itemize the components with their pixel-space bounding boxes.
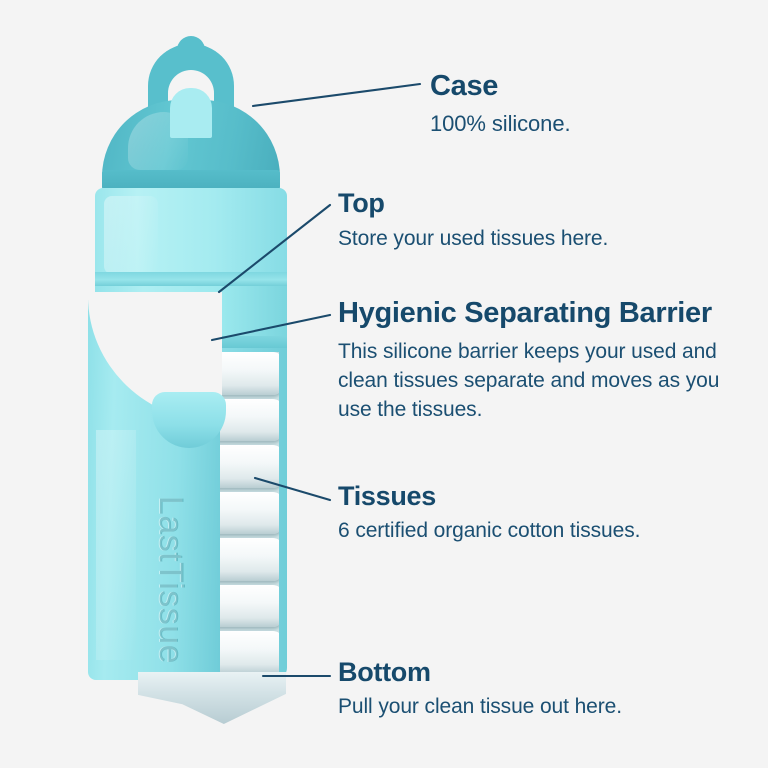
callout-case-description: 100% silicone. — [430, 109, 760, 139]
callout-tissues-description: 6 certified organic cotton tissues. — [338, 517, 738, 546]
callout-top: Top Store your used tissues here. — [338, 188, 758, 254]
callout-case-title: Case — [430, 70, 760, 103]
callout-bottom-description: Pull your clean tissue out here. — [338, 693, 738, 722]
callout-barrier-title: Hygienic Separating Barrier — [338, 297, 738, 330]
callout-tissues: Tissues 6 certified organic cotton tissu… — [338, 481, 738, 546]
callout-bottom-title: Bottom — [338, 657, 738, 688]
callout-top-title: Top — [338, 188, 758, 219]
callout-top-description: Store your used tissues here. — [338, 225, 758, 254]
leader-line-top — [219, 205, 330, 292]
callout-case: Case 100% silicone. — [430, 70, 760, 140]
callout-tissues-title: Tissues — [338, 481, 738, 512]
leader-line-barrier — [212, 315, 330, 340]
callout-barrier: Hygienic Separating Barrier This silicon… — [338, 297, 738, 425]
leader-line-case — [253, 84, 420, 106]
callout-bottom: Bottom Pull your clean tissue out here. — [338, 657, 738, 722]
leader-line-tissues — [255, 478, 330, 500]
callout-barrier-description: This silicone barrier keeps your used an… — [338, 338, 738, 425]
infographic-canvas: LastTissue Case 100% silicone. Top Store… — [0, 0, 768, 768]
